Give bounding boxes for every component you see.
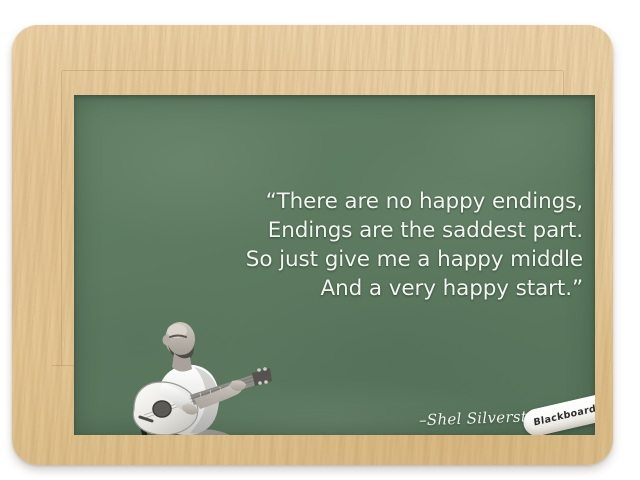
guitarist-photo <box>132 313 272 435</box>
guitarist-head <box>163 322 196 361</box>
chalk-badge-label: Blackboard Quotations <box>533 388 595 428</box>
wooden-frame: “There are no happy endings, Endings are… <box>12 25 613 465</box>
guitarist-illustration <box>132 313 272 435</box>
quote-line-2: Endings are the saddest part. <box>183 216 583 245</box>
quote-line-3: So just give me a happy middle <box>183 245 583 274</box>
frame-seam-left <box>61 71 62 366</box>
quote-line-4: And a very happy start.” <box>183 274 583 303</box>
chalkboard-surface: “There are no happy endings, Endings are… <box>74 95 595 435</box>
poster-stage: “There are no happy endings, Endings are… <box>0 0 640 480</box>
frame-seam-top <box>62 70 563 71</box>
quote-text: “There are no happy endings, Endings are… <box>183 187 583 303</box>
quote-line-1: “There are no happy endings, <box>183 187 583 216</box>
